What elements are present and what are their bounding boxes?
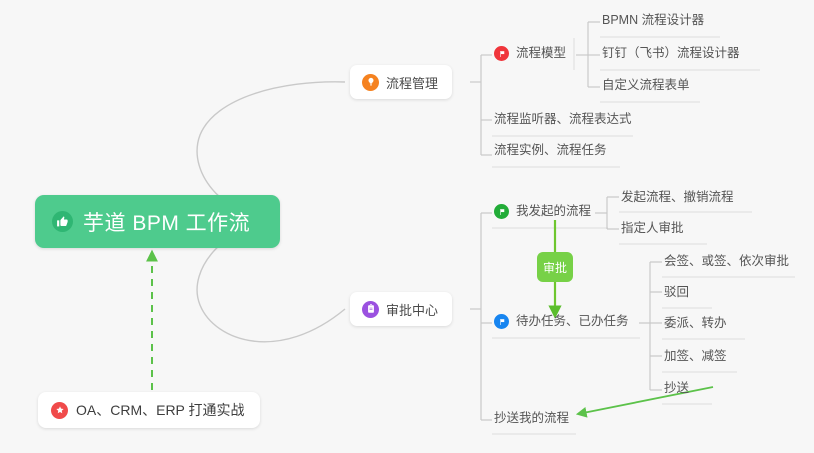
leaf-cc-to-me[interactable]: 抄送我的流程 — [494, 410, 569, 430]
leaf-label: 会签、或签、依次审批 — [664, 253, 789, 270]
clipboard-icon — [362, 301, 379, 318]
mindmap-canvas: 芋道 BPM 工作流 流程管理 审批中心 — [0, 0, 814, 453]
leaf-process-listener[interactable]: 流程监听器、流程表达式 — [494, 111, 632, 131]
branch-node-process-management[interactable]: 流程管理 — [350, 65, 452, 99]
flag-icon — [494, 314, 509, 329]
leaf-reject[interactable]: 驳回 — [664, 284, 689, 304]
highlight-node-integration[interactable]: OA、CRM、ERP 打通实战 — [38, 392, 260, 428]
leaf-label: 抄送我的流程 — [494, 410, 569, 427]
leaf-label: 抄送 — [664, 380, 689, 397]
leaf-countersign[interactable]: 会签、或签、依次审批 — [664, 253, 789, 273]
leaf-assignee-approval[interactable]: 指定人审批 — [621, 220, 684, 240]
leaf-label: 流程模型 — [516, 45, 566, 62]
star-icon — [51, 402, 68, 419]
leaf-start-cancel-process[interactable]: 发起流程、撤销流程 — [621, 189, 734, 209]
leaf-label: 委派、转办 — [664, 315, 727, 332]
leaf-label: 流程实例、流程任务 — [494, 142, 607, 159]
leaf-label: 钉钉（飞书）流程设计器 — [602, 45, 740, 62]
leaf-add-remove-sign[interactable]: 加签、减签 — [664, 348, 727, 368]
leaf-label: 流程监听器、流程表达式 — [494, 111, 632, 128]
arrow-cc-to-cc-my-process — [578, 387, 713, 414]
flow-badge-label: 审批 — [543, 259, 567, 276]
leaf-bpmn-designer[interactable]: BPMN 流程设计器 — [602, 12, 704, 32]
leaf-delegate-transfer[interactable]: 委派、转办 — [664, 315, 727, 335]
branch-node-approval-center[interactable]: 审批中心 — [350, 292, 452, 326]
leaf-label: 指定人审批 — [621, 220, 684, 237]
leaf-label: 加签、减签 — [664, 348, 727, 365]
leaf-label: 驳回 — [664, 284, 689, 301]
leaf-label: 发起流程、撤销流程 — [621, 189, 734, 206]
leaf-custom-form[interactable]: 自定义流程表单 — [602, 77, 690, 97]
leaf-label: 我发起的流程 — [516, 203, 591, 220]
leaf-label: 待办任务、已办任务 — [516, 313, 629, 330]
leaf-label: BPMN 流程设计器 — [602, 12, 704, 29]
leaf-todo-done-tasks[interactable]: 待办任务、已办任务 — [494, 313, 629, 333]
lightbulb-icon — [362, 74, 379, 91]
leaf-process-instance[interactable]: 流程实例、流程任务 — [494, 142, 607, 162]
flag-icon — [494, 204, 509, 219]
highlight-label: OA、CRM、ERP 打通实战 — [76, 400, 245, 420]
branch-label-approval-center: 审批中心 — [386, 300, 438, 319]
root-node[interactable]: 芋道 BPM 工作流 — [35, 195, 280, 248]
flag-icon — [494, 46, 509, 61]
leaf-dingtalk-designer[interactable]: 钉钉（飞书）流程设计器 — [602, 45, 740, 65]
flow-badge-approval[interactable]: 审批 — [537, 252, 573, 282]
leaf-label: 自定义流程表单 — [602, 77, 690, 94]
root-label: 芋道 BPM 工作流 — [83, 207, 250, 237]
leaf-carbon-copy[interactable]: 抄送 — [664, 380, 689, 400]
leaf-my-initiated[interactable]: 我发起的流程 — [494, 203, 591, 223]
leaf-process-model[interactable]: 流程模型 — [494, 45, 566, 65]
thumbs-up-icon — [52, 211, 73, 232]
branch-label-process-management: 流程管理 — [386, 73, 438, 92]
